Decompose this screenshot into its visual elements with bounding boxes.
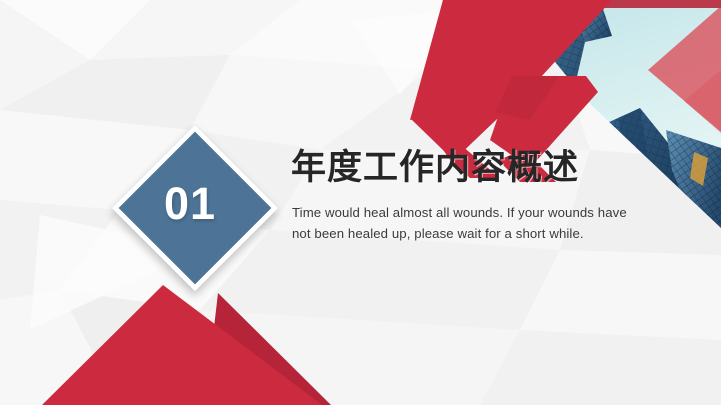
step-number-badge: 01	[117, 130, 263, 276]
slide-title: 年度工作内容概述	[291, 148, 579, 188]
slide-subtitle: Time would heal almost all wounds. If yo…	[292, 203, 628, 244]
red-triangle-large	[42, 285, 322, 405]
badge-number: 01	[117, 130, 263, 276]
presentation-slide: 01 年度工作内容概述 Time would heal almost all w…	[0, 0, 721, 405]
